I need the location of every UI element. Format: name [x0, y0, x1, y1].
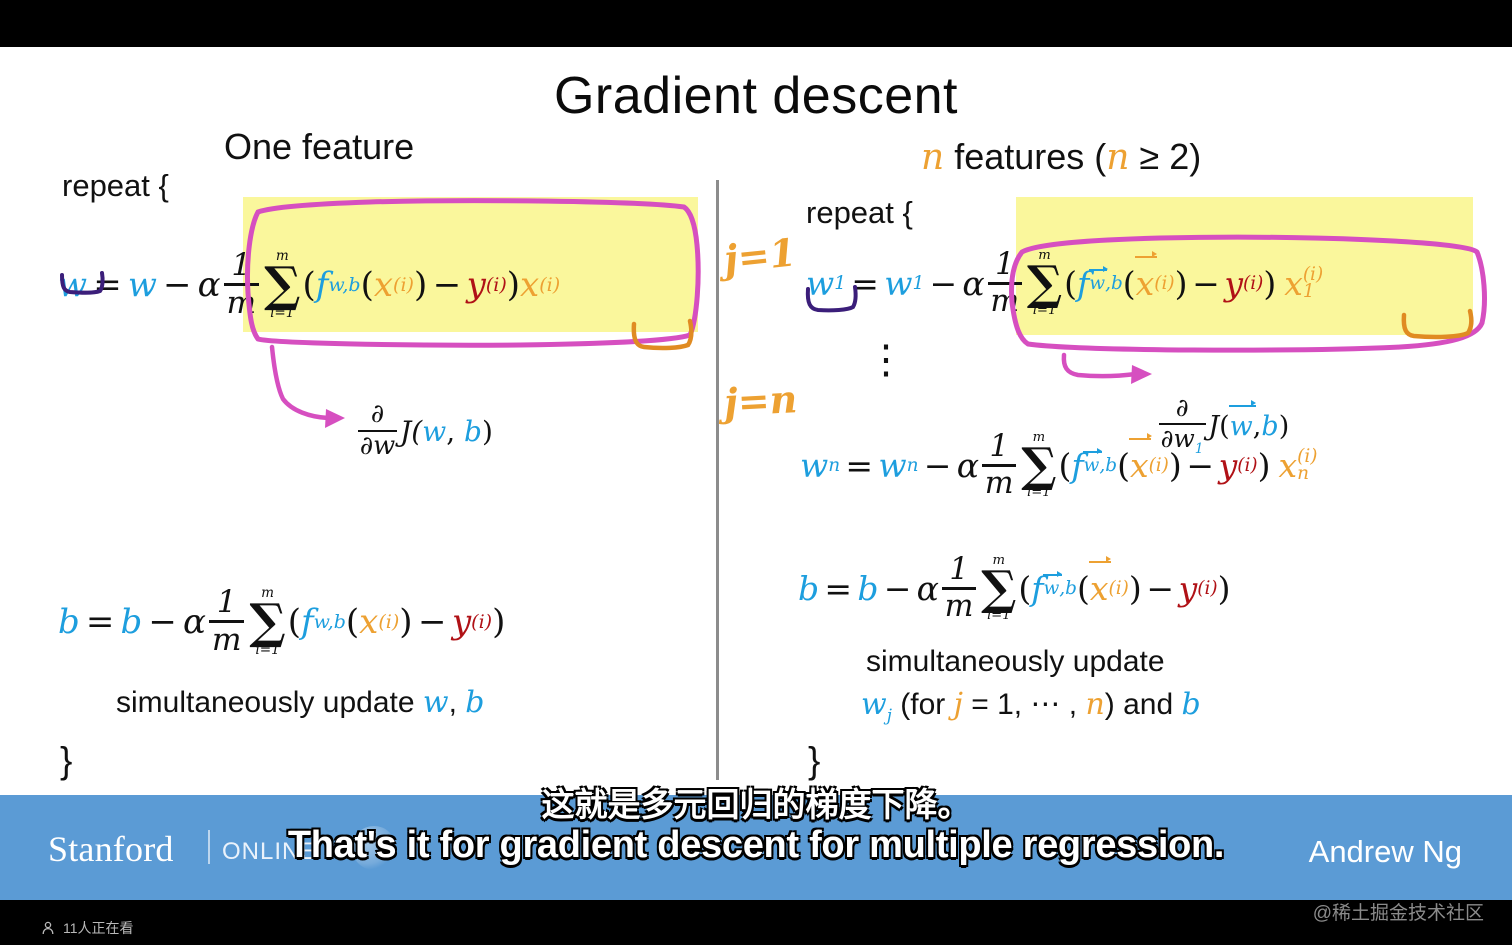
minus-sign: −	[929, 264, 957, 303]
alpha-symbol: α	[917, 569, 939, 608]
x-variable: x	[374, 265, 393, 305]
alpha-symbol: α	[183, 602, 206, 642]
left-close-brace: }	[60, 742, 72, 779]
left-w-update-equation: w = w − α 1 m m ∑ i=1 ( f w,b ( x (i) ) …	[58, 250, 560, 319]
right-simultaneous-update-line2: wj (for j = 1, ⋯ , n) and b	[861, 690, 1201, 724]
sigma-glyph: ∑	[1027, 262, 1062, 305]
heading-n2: n	[1106, 137, 1129, 178]
w-vector-subscript: w	[1043, 578, 1059, 599]
partial-numerator: ∂	[1174, 396, 1191, 421]
right-repeat-label: repeat {	[806, 197, 913, 228]
for-label: (for	[892, 688, 954, 721]
sum-lower-limit: i=1	[1027, 487, 1051, 499]
open-paren: (	[288, 602, 301, 642]
close-paren: )	[1258, 446, 1271, 485]
inner-open-paren: (	[1123, 264, 1136, 303]
j-equals-one-annotation: j=1	[722, 233, 798, 278]
open-paren: (	[302, 265, 315, 305]
n-variable: n	[1085, 687, 1104, 722]
lecture-slide: Gradient descent One feature repeat { w …	[0, 47, 1512, 795]
f-function: f	[1077, 264, 1089, 303]
j-variable: j	[954, 687, 963, 722]
sum-lower-limit: i=1	[1033, 305, 1057, 317]
x-vector: x	[1136, 264, 1155, 303]
summation-symbol: m ∑ i=1	[1021, 432, 1056, 499]
y-variable: y	[1179, 569, 1198, 608]
inner-minus: −	[1146, 569, 1174, 608]
open-paren: (	[1018, 569, 1031, 608]
inner-minus: −	[433, 265, 462, 305]
y-variable: y	[452, 602, 471, 642]
partial-numerator: ∂	[369, 402, 386, 428]
f-subscript: w,b	[1084, 455, 1118, 476]
w1-rhs: w	[884, 264, 912, 303]
y-superscript: (i)	[1197, 578, 1217, 599]
right-b-update-equation: b = b − α 1 m m ∑ i=1 ( f w,b ( x (i) ) …	[798, 555, 1230, 622]
simultaneous-w: w	[423, 685, 449, 720]
heading-tail: ≥ 2)	[1129, 136, 1201, 177]
letterbox-bottom	[0, 900, 1512, 945]
w-vector-subscript: w	[1089, 273, 1105, 294]
w-rhs: w	[128, 265, 157, 305]
wn-rhs: w	[878, 446, 906, 485]
equals-sign: =	[824, 569, 852, 608]
viewers-icon	[40, 920, 56, 936]
inner-minus: −	[418, 602, 447, 642]
simultaneous-label: simultaneously update	[116, 686, 415, 719]
magenta-arrow-left	[272, 347, 328, 418]
x-superscript: (i)	[1149, 455, 1169, 476]
x-superscript: (i)	[378, 611, 399, 633]
site-watermark: @稀土掘金技术社区	[1313, 898, 1484, 925]
f-subscript: w,b	[328, 274, 360, 296]
minus-sign: −	[163, 265, 192, 305]
fraction-numerator: 1	[214, 587, 239, 618]
j-equals-n-annotation: j=n	[723, 380, 798, 422]
sum-lower-limit: i=1	[255, 644, 279, 657]
sigma-glyph: ∑	[264, 263, 300, 307]
fraction-denominator: m	[209, 625, 244, 656]
wn-lhs: w	[800, 446, 828, 485]
left-repeat-label: repeat {	[62, 170, 169, 201]
left-b-update-equation: b = b − α 1 m m ∑ i=1 ( f w,b ( x (i) ) …	[58, 587, 505, 656]
x-variable: x	[359, 602, 378, 642]
x-superscript: (i)	[1154, 273, 1174, 294]
minus-sign: −	[884, 569, 912, 608]
inner-close-paren: )	[1175, 264, 1188, 303]
simultaneous-comma: ,	[449, 686, 457, 719]
cost-function-args: (w, b)	[411, 415, 493, 448]
vertical-dots: ⋮	[866, 340, 906, 380]
one-over-m-fraction: 1 m	[209, 587, 244, 656]
inner-open-paren: (	[1117, 446, 1130, 485]
fraction-numerator: 1	[993, 250, 1017, 280]
open-paren: (	[1058, 446, 1071, 485]
minus-sign: −	[924, 446, 952, 485]
fraction-denominator: m	[942, 592, 976, 622]
minus-sign: −	[148, 602, 177, 642]
one-over-m-fraction: 1 m	[942, 555, 976, 622]
x-vector: x	[1090, 569, 1109, 608]
b-lhs: b	[798, 569, 819, 608]
panel-divider	[716, 180, 719, 780]
fraction-numerator: 1	[987, 432, 1011, 462]
y-superscript: (i)	[471, 611, 492, 633]
summation-symbol: m ∑ i=1	[981, 555, 1016, 622]
alpha-symbol: α	[198, 265, 221, 305]
fraction-denominator: m	[224, 288, 259, 319]
range-text: = 1, ⋯ ,	[963, 688, 1086, 721]
b-lhs: b	[58, 602, 80, 642]
fraction-numerator: 1	[229, 250, 254, 281]
cost-function-J: J	[400, 415, 411, 448]
close-paren: )	[1263, 264, 1276, 303]
left-panel-heading: One feature	[224, 129, 414, 165]
tail-x-scripts: (i) n	[1297, 449, 1317, 482]
b-rhs: b	[120, 602, 142, 642]
right-wn-update-equation: wn = wn − α 1 m m ∑ i=1 ( f w,b ( x (i) …	[800, 432, 1317, 499]
y-superscript: (i)	[486, 274, 507, 296]
equals-sign: =	[93, 265, 122, 305]
w-vector-subscript: w	[1084, 455, 1100, 476]
inner-close-paren: )	[399, 602, 412, 642]
inner-open-paren: (	[1077, 569, 1090, 608]
w1-lhs: w	[806, 264, 834, 303]
x-superscript: (i)	[393, 274, 414, 296]
inner-close-paren: )	[414, 265, 427, 305]
equals-sign: =	[86, 602, 115, 642]
inner-minus: −	[1186, 446, 1214, 485]
inner-open-paren: (	[361, 265, 374, 305]
f-function: f	[1071, 446, 1083, 485]
x-superscript: (i)	[1109, 578, 1129, 599]
wn-rhs-sub: n	[907, 455, 919, 476]
x-vector: x	[1130, 446, 1149, 485]
y-superscript: (i)	[1243, 273, 1263, 294]
w-lhs: w	[58, 265, 87, 305]
fraction-numerator: 1	[947, 555, 971, 585]
f-subscript: w,b	[1089, 273, 1123, 294]
b-rhs: b	[857, 569, 878, 608]
wj-variable: w	[861, 687, 887, 722]
w1-rhs-sub: 1	[912, 273, 924, 294]
one-over-m-fraction: 1 m	[982, 432, 1016, 499]
one-over-m-fraction: 1 m	[224, 250, 259, 319]
b-variable: b	[1182, 687, 1201, 722]
inner-minus: −	[1192, 264, 1220, 303]
partial-denominator: ∂w	[358, 434, 397, 460]
f-function: f	[1031, 569, 1043, 608]
viewer-count-label: 11人正在看	[63, 918, 134, 938]
close-paren: )	[1218, 569, 1231, 608]
y-superscript: (i)	[1237, 455, 1257, 476]
subtitle-english: That's it for gradient descent for multi…	[0, 824, 1512, 867]
y-variable: y	[1219, 446, 1238, 485]
fraction-denominator: m	[982, 469, 1016, 499]
left-derivative-note: ∂ ∂w J (w, b)	[355, 402, 493, 460]
close-paren: )	[492, 602, 505, 642]
f-subscript: w,b	[1043, 578, 1077, 599]
left-simultaneous-update: simultaneously update w, b	[116, 688, 484, 718]
f-subscript: w,b	[314, 611, 346, 633]
one-over-m-fraction: 1 m	[988, 250, 1022, 317]
fraction-denominator: m	[988, 287, 1022, 317]
and-label: ) and	[1105, 688, 1182, 721]
letterbox-top	[0, 0, 1512, 47]
equals-sign: =	[845, 446, 873, 485]
page-title: Gradient descent	[0, 70, 1512, 122]
sigma-glyph: ∑	[981, 567, 1016, 610]
tail-x-variable: x	[520, 265, 539, 305]
summation-symbol: m ∑ i=1	[264, 250, 300, 319]
right-close-brace: }	[808, 742, 820, 779]
right-simultaneous-update-line1: simultaneously update	[866, 647, 1165, 677]
video-player-frame: Gradient descent One feature repeat { w …	[0, 0, 1512, 945]
sigma-glyph: ∑	[249, 600, 285, 644]
viewer-count: 11人正在看	[40, 918, 134, 938]
heading-n: n	[921, 137, 944, 178]
close-paren: )	[507, 265, 520, 305]
f-function: f	[301, 602, 314, 642]
sum-lower-limit: i=1	[987, 610, 1011, 622]
magenta-arrow-right	[1064, 355, 1136, 376]
w1-lhs-sub: 1	[834, 273, 846, 294]
inner-open-paren: (	[346, 602, 359, 642]
open-paren: (	[1064, 264, 1077, 303]
tail-x-variable: x	[1284, 264, 1303, 303]
sum-lower-limit: i=1	[270, 307, 294, 320]
subtitle-chinese: 这就是多元回归的梯度下降。	[0, 778, 1512, 826]
heading-rest: features (	[944, 136, 1106, 177]
summation-symbol: m ∑ i=1	[1027, 250, 1062, 317]
magenta-arrowhead-right	[1131, 365, 1152, 384]
inner-close-paren: )	[1129, 569, 1142, 608]
right-w1-update-equation: w1 = w1 − α 1 m m ∑ i=1 ( f w,b ( x (i) …	[806, 250, 1323, 317]
alpha-symbol: α	[957, 446, 979, 485]
simultaneous-b: b	[465, 685, 484, 720]
wn-lhs-sub: n	[828, 455, 840, 476]
y-variable: y	[467, 265, 486, 305]
f-function: f	[316, 265, 329, 305]
y-variable: y	[1224, 264, 1243, 303]
right-panel-heading: n features (n ≥ 2)	[921, 139, 1201, 176]
alpha-symbol: α	[962, 264, 984, 303]
tail-x-scripts: (i) 1	[1303, 267, 1323, 300]
tail-x-variable: x	[1279, 446, 1298, 485]
partial-fraction: ∂ ∂w	[358, 402, 397, 460]
equals-sign: =	[851, 264, 879, 303]
inner-close-paren: )	[1169, 446, 1182, 485]
summation-symbol: m ∑ i=1	[249, 587, 285, 656]
magenta-arrowhead-left	[325, 409, 345, 428]
sigma-glyph: ∑	[1021, 444, 1056, 487]
tail-x-superscript: (i)	[539, 274, 560, 296]
